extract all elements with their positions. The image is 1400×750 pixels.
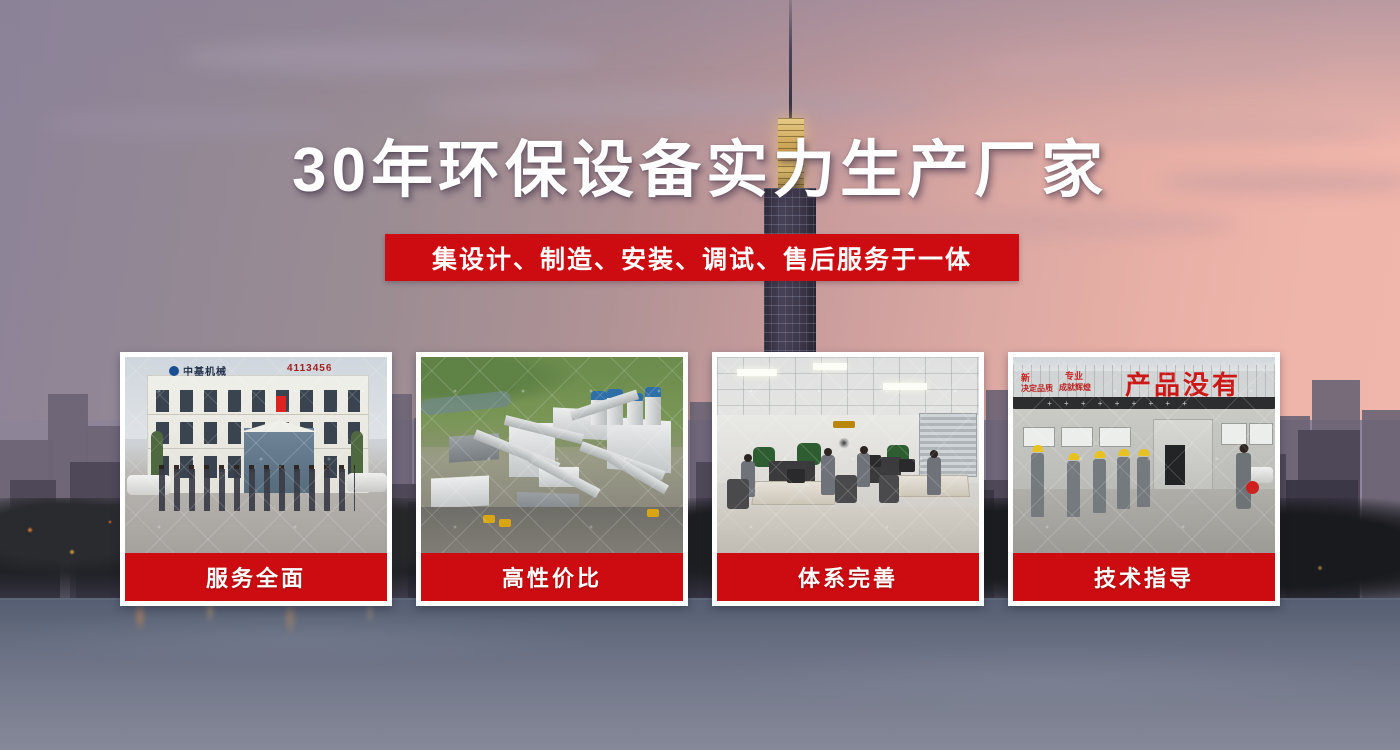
company-logo-icon xyxy=(169,366,179,376)
staff-lineup xyxy=(159,469,355,511)
feature-card[interactable]: 体系完善 xyxy=(712,352,984,606)
card-photo-factory-workers: 新 决定品质 专业 成就辉煌 产品没有 + + + + + + + + + xyxy=(1013,357,1275,553)
card-caption-bar: 技术指导 xyxy=(1013,553,1275,601)
card-caption-bar: 体系完善 xyxy=(717,553,979,601)
cloud-icon xyxy=(980,52,1310,82)
card-caption-bar: 服务全面 xyxy=(125,553,387,601)
card-photo-company-building: 中基机械 4113456 xyxy=(125,357,387,553)
factory-slogan-text: 专业 xyxy=(1065,369,1083,382)
feature-card-row: 中基机械 4113456 服务全面 xyxy=(120,352,1280,606)
card-caption-text: 技术指导 xyxy=(1094,561,1194,593)
card-caption-text: 体系完善 xyxy=(798,561,898,593)
page-title: 30年环保设备实力生产厂家 xyxy=(0,138,1400,203)
tower-antenna-icon xyxy=(789,0,792,122)
card-photo-office-interior xyxy=(717,357,979,553)
hero-banner: 30年环保设备实力生产厂家 集设计、制造、安装、调试、售后服务于一体 xyxy=(0,0,1400,750)
factory-slogan-text: 决定品质 xyxy=(1021,383,1053,394)
cloud-icon xyxy=(40,112,340,136)
building-company-sign: 中基机械 xyxy=(183,363,227,378)
factory-slogan-text: 成就辉煌 xyxy=(1059,382,1091,393)
card-caption-text: 服务全面 xyxy=(206,561,306,593)
red-helmet-icon xyxy=(1246,481,1259,494)
building-phone-sign: 4113456 xyxy=(287,363,332,374)
cloud-icon xyxy=(420,92,940,118)
subtitle-text: 集设计、制造、安装、调试、售后服务于一体 xyxy=(432,240,972,276)
feature-card[interactable]: 新 决定品质 专业 成就辉煌 产品没有 + + + + + + + + + xyxy=(1008,352,1280,606)
feature-card[interactable]: 中基机械 4113456 服务全面 xyxy=(120,352,392,606)
feature-card[interactable]: 高性价比 xyxy=(416,352,688,606)
water-reflections xyxy=(120,600,500,640)
cloud-icon xyxy=(180,40,600,74)
card-caption-bar: 高性价比 xyxy=(421,553,683,601)
subtitle-banner: 集设计、制造、安装、调试、售后服务于一体 xyxy=(385,234,1019,281)
card-caption-text: 高性价比 xyxy=(502,561,602,593)
card-photo-plant-aerial xyxy=(421,357,683,553)
